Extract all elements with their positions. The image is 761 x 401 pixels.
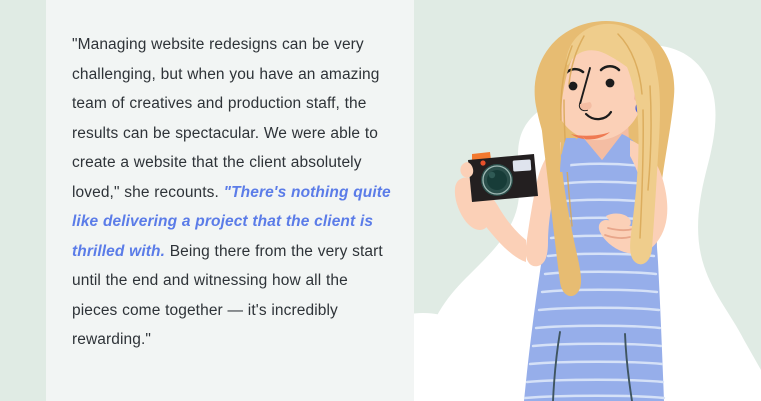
- illustration-area: [414, 0, 761, 401]
- left-accent-band: [0, 0, 46, 401]
- eye-left: [569, 82, 578, 91]
- camera: [468, 152, 538, 202]
- testimonial-quote: "Managing website redesigns can be very …: [72, 30, 396, 355]
- testimonial-card: "Managing website redesigns can be very …: [0, 0, 761, 401]
- quote-part-one: "Managing website redesigns can be very …: [72, 36, 380, 201]
- woman-with-camera-illustration: [414, 0, 761, 401]
- camera-viewfinder-window: [513, 159, 532, 171]
- camera-shutter-dot: [480, 160, 485, 165]
- camera-lens-glint: [489, 172, 495, 178]
- eye-right: [606, 79, 615, 88]
- quote-panel: "Managing website redesigns can be very …: [46, 0, 414, 401]
